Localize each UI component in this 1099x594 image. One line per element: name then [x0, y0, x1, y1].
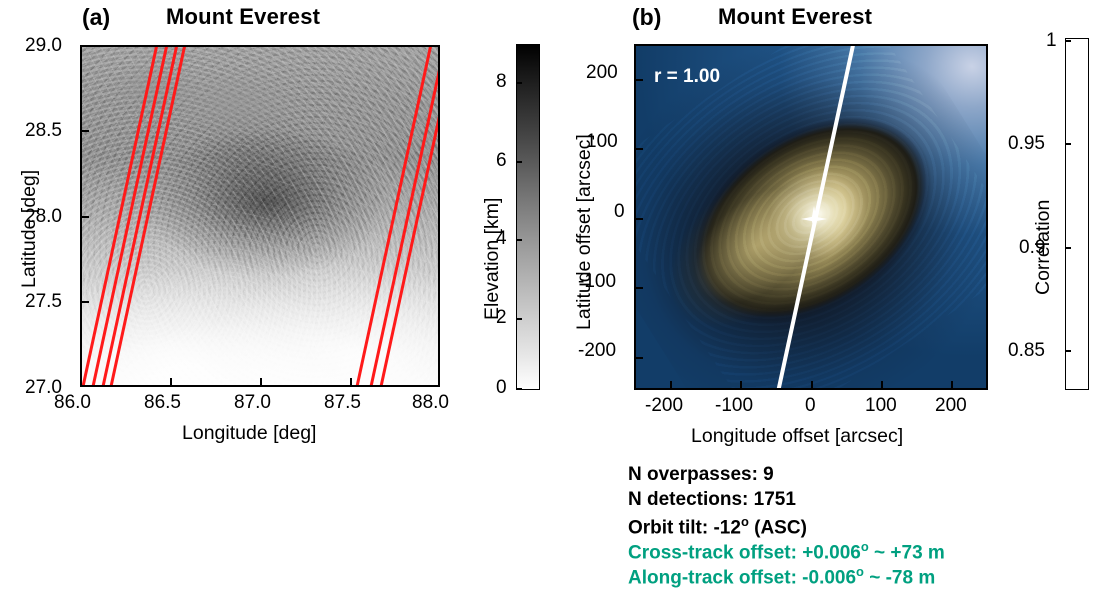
elevation-cb-tick-0	[516, 388, 522, 390]
panel-b-ytick-major-2	[634, 218, 643, 220]
degree-sup-along: o	[856, 564, 864, 579]
elevation-cb-tick-8	[516, 82, 522, 84]
stat-n-detections-text: N detections: 1751	[628, 489, 796, 510]
panel-a-xtick-label-1: 86.5	[144, 392, 181, 414]
panel-a-xtick-major-1	[170, 378, 172, 387]
panel-b-ytick-major-1	[634, 148, 643, 150]
panel-a-ytick-major-4	[80, 385, 89, 387]
correlation-raster: r = 1.00	[636, 46, 986, 388]
panel-a-xtick-major-2	[260, 378, 262, 387]
panel-b-letter: (b)	[632, 4, 661, 31]
stat-orbit-tilt-post: (ASC)	[749, 517, 807, 538]
panel-a-xtick-label-4: 88.0	[412, 392, 449, 414]
panel-b-ylabel: Latitude offset [arcsec]	[573, 134, 596, 330]
panel-a-plot-area	[80, 45, 440, 387]
panel-b-ytick-label-1: 100	[586, 131, 618, 153]
stat-n-overpasses-text: N overpasses: 9	[628, 464, 774, 485]
elevation-cb-tick-4	[516, 239, 522, 241]
correlation-value-annotation: r = 1.00	[654, 66, 720, 88]
panel-b-xtick-major-3	[881, 381, 883, 390]
correlation-cb-tick-09	[1065, 247, 1071, 249]
panel-a-xtick-label-0: 86.0	[54, 392, 91, 414]
elevation-colorbar	[516, 44, 540, 390]
panel-b-ytick-label-0: 200	[586, 62, 618, 84]
panel-a-ytick-major-3	[80, 301, 89, 303]
panel-a-ylabel: Latitude [deg]	[18, 170, 41, 288]
panel-a-ytick-3: 27.5	[25, 291, 62, 313]
panel-a-xtick-label-2: 87.0	[234, 392, 271, 414]
degree-sup-orbit: o	[741, 514, 749, 529]
elevation-cb-tick-6	[516, 161, 522, 163]
panel-b-xtick-label-3: 100	[865, 395, 897, 417]
panel-a-ytick-major-2	[80, 216, 89, 218]
terrain-smooth-plateau	[82, 47, 438, 385]
stat-along-track-post: ~ -78 m	[864, 567, 935, 588]
panel-b-ytick-major-0	[634, 79, 643, 81]
panel-b-xlabel: Longitude offset [arcsec]	[691, 425, 903, 448]
panel-a-ytick-0: 29.0	[25, 35, 62, 57]
panel-a-letter: (a)	[82, 4, 110, 31]
panel-b-ytick-major-4	[634, 357, 643, 359]
elevation-cb-label-2: 2	[496, 307, 507, 329]
panel-b-xtick-major-0	[670, 381, 672, 390]
correlation-cb-label-085: 0.85	[1008, 340, 1045, 362]
stat-along-track-offset: Along-track offset: -0.006o ~ -78 m	[628, 564, 935, 589]
elevation-cb-label-6: 6	[496, 150, 507, 172]
panel-b-ytick-label-2: 0	[614, 201, 625, 223]
panel-a-xtick-major-4	[438, 378, 440, 387]
panel-b-title: Mount Everest	[718, 4, 872, 30]
correlation-cb-label-095: 0.95	[1008, 133, 1045, 155]
stat-cross-track-offset: Cross-track offset: +0.006o ~ +73 m	[628, 539, 945, 564]
correlation-cb-tick-085	[1065, 350, 1071, 352]
elevation-cb-label-4: 4	[496, 228, 507, 250]
panel-a-xlabel: Longitude [deg]	[182, 422, 316, 445]
panel-b-xtick-major-1	[740, 381, 742, 390]
stat-cross-track-post: ~ +73 m	[869, 542, 945, 563]
stat-orbit-tilt: Orbit tilt: -12o (ASC)	[628, 514, 807, 539]
elevation-cb-tick-2	[516, 318, 522, 320]
panel-a-ytick-1: 28.5	[25, 120, 62, 142]
panel-b-xtick-major-4	[951, 381, 953, 390]
stat-n-overpasses: N overpasses: 9	[628, 464, 774, 486]
correlation-colorbar	[1065, 38, 1089, 390]
correlation-cb-tick-1	[1065, 40, 1071, 42]
panel-b-xtick-label-2: 0	[805, 395, 816, 417]
correlation-cb-tick-095	[1065, 143, 1071, 145]
panel-b-ytick-major-3	[634, 287, 643, 289]
elevation-cb-label-0: 0	[496, 377, 507, 399]
panel-b-ytick-label-4: -200	[578, 340, 616, 362]
panel-b-xtick-label-1: -100	[715, 395, 753, 417]
elevation-cb-label-8: 8	[496, 71, 507, 93]
elevation-colorbar-label: Elevation [km]	[481, 198, 504, 320]
panel-a-ytick-major-1	[80, 130, 89, 132]
panel-a-title: Mount Everest	[166, 4, 320, 30]
panel-b-ytick-label-3: -100	[578, 271, 616, 293]
stat-n-detections: N detections: 1751	[628, 489, 796, 511]
degree-sup-cross: o	[861, 539, 869, 554]
correlation-cb-label-09: 0.9	[1019, 237, 1045, 259]
panel-a-xtick-label-3: 87.5	[324, 392, 361, 414]
stat-along-track-pre: Along-track offset: -0.006	[628, 567, 856, 588]
panel-a-ytick-major-0	[80, 45, 89, 47]
panel-b-xtick-label-4: 200	[935, 395, 967, 417]
stat-cross-track-pre: Cross-track offset: +0.006	[628, 542, 861, 563]
panel-a-xtick-major-3	[350, 378, 352, 387]
stat-orbit-tilt-pre: Orbit tilt: -12	[628, 517, 741, 538]
correlation-cb-label-1: 1	[1046, 30, 1057, 52]
panel-b-xtick-label-0: -200	[645, 395, 683, 417]
panel-b-plot-area: r = 1.00	[634, 44, 988, 390]
elevation-raster	[82, 47, 438, 385]
panel-b-xtick-major-2	[811, 381, 813, 390]
